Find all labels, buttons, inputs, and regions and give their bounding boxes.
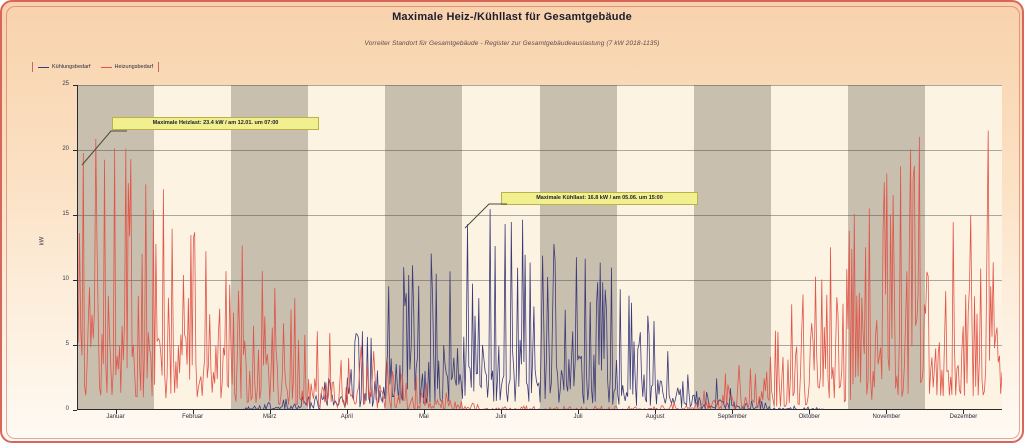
line-swatch-icon xyxy=(38,67,49,68)
x-axis-label-februar: Februar xyxy=(182,414,203,420)
y-axis-tick-label: 10 xyxy=(47,276,69,282)
x-axis-label-märz: März xyxy=(263,414,276,420)
x-axis-tick-mark xyxy=(578,410,579,414)
cooling-leader-line xyxy=(457,190,507,230)
y-axis-tick-mark xyxy=(73,410,77,411)
legend-item-1[interactable]: Heizungsbedarf xyxy=(101,64,154,70)
x-axis-tick-mark xyxy=(963,410,964,414)
x-axis-tick-mark xyxy=(347,410,348,414)
y-axis-label: kW xyxy=(39,237,45,246)
x-axis-tick-mark xyxy=(193,410,194,414)
legend-item-0[interactable]: Kühlungsbedarf xyxy=(38,64,91,70)
chart-legend: KühlungsbedarfHeizungsbedarf xyxy=(32,62,159,72)
x-axis-label-januar: Januar xyxy=(106,414,124,420)
x-axis-tick-mark xyxy=(809,410,810,414)
legend-item-label: Heizungsbedarf xyxy=(115,64,154,70)
x-axis-label-august: August xyxy=(646,414,665,420)
line-swatch-icon xyxy=(101,67,112,68)
y-axis-tick-label: 20 xyxy=(47,146,69,152)
y-axis-tick-mark xyxy=(73,85,77,86)
max-heating-load-annotation: Maximale Heizlast: 23.4 kW / am 12.01. u… xyxy=(112,117,319,130)
x-axis-label-juni: Juni xyxy=(495,414,506,420)
y-axis-tick-label: 25 xyxy=(47,81,69,87)
x-axis-tick-mark xyxy=(501,410,502,414)
chart-window: Maximale Heiz-/Kühllast für Gesamtgebäud… xyxy=(0,0,1024,443)
y-axis-tick-label: 0 xyxy=(47,406,69,412)
x-axis-tick-mark xyxy=(655,410,656,414)
x-axis-tick-mark xyxy=(886,410,887,414)
x-axis-tick-mark xyxy=(424,410,425,414)
series-line-heizungsbedarf xyxy=(77,131,1002,411)
x-axis-label-juli: Juli xyxy=(574,414,583,420)
series-paths xyxy=(77,85,1002,410)
y-axis-tick-mark xyxy=(73,280,77,281)
x-axis-tick-mark xyxy=(116,410,117,414)
x-axis-label-dezember: Dezember xyxy=(950,414,978,420)
y-axis-tick-mark xyxy=(73,345,77,346)
y-axis-tick-label: 5 xyxy=(47,341,69,347)
y-axis-tick-label: 15 xyxy=(47,211,69,217)
page-title: Maximale Heiz-/Kühllast für Gesamtgebäud… xyxy=(2,11,1022,23)
x-axis-label-september: September xyxy=(718,414,747,420)
series-line-kühlungsbedarf xyxy=(77,209,1002,410)
heating-leader-line xyxy=(77,115,127,167)
chart-subtitle: Vorreiter Standort für Gesamtgebäude - R… xyxy=(2,40,1022,47)
max-cooling-load-annotation: Maximale Kühllast: 16.8 kW / am 05.06. u… xyxy=(501,192,698,205)
x-axis-label-november: November xyxy=(873,414,901,420)
x-axis-label-oktober: Oktober xyxy=(799,414,820,420)
plot-area xyxy=(77,85,1002,410)
x-axis-tick-mark xyxy=(732,410,733,414)
x-axis-tick-mark xyxy=(270,410,271,414)
y-axis-tick-mark xyxy=(73,215,77,216)
x-axis-label-mai: Mai xyxy=(419,414,429,420)
x-axis-label-april: April xyxy=(341,414,353,420)
legend-item-label: Kühlungsbedarf xyxy=(52,64,91,70)
